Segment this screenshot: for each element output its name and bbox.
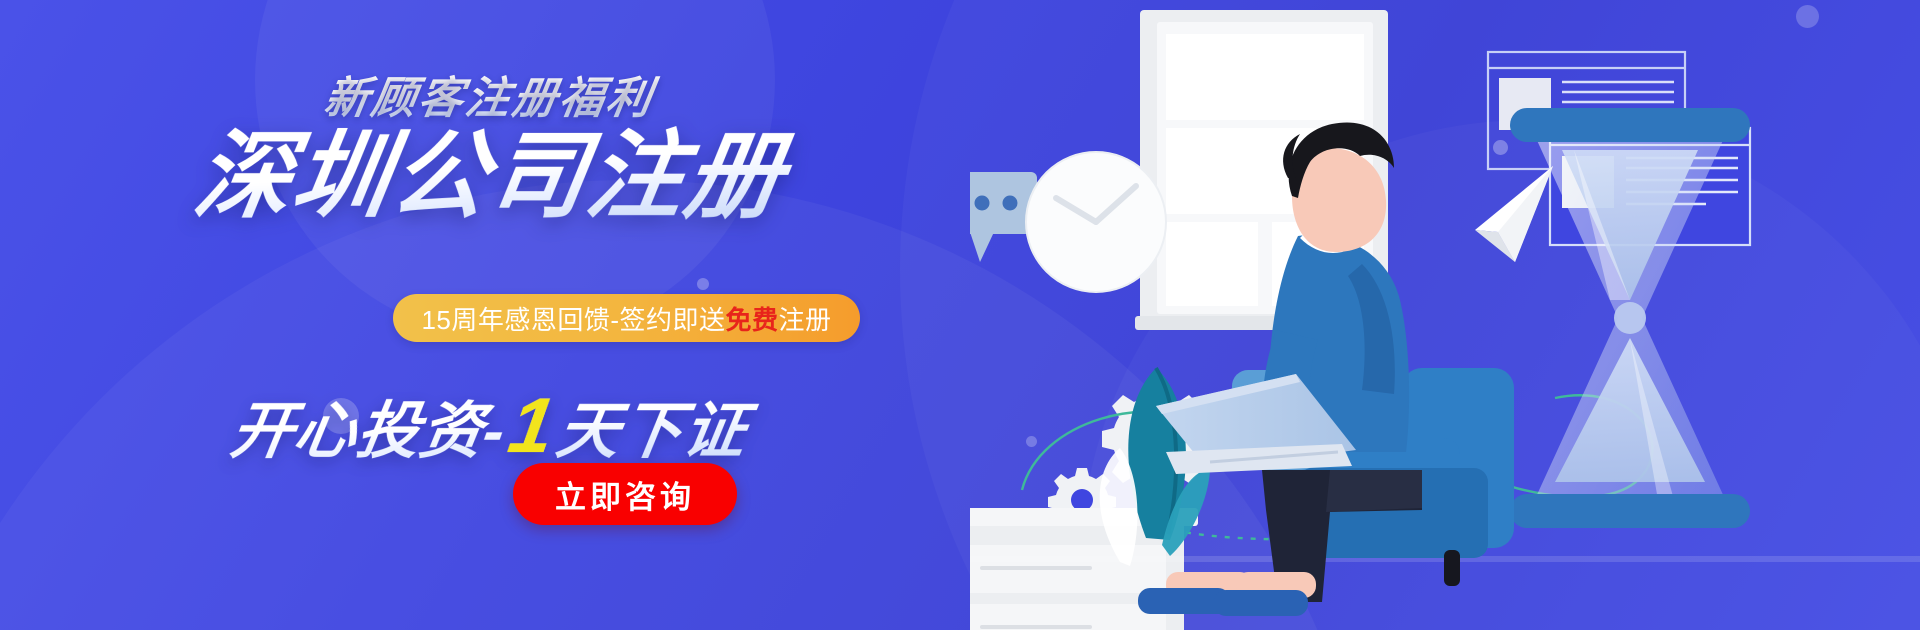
promo-banner: 新顾客注册福利 深圳公司注册 15周年感恩回馈-签约即送免费注册 开心投资-1天… xyxy=(0,0,1920,630)
promo-pill-text: 15周年感恩回馈-签约即送免费注册 xyxy=(421,300,831,337)
wall-clock-icon xyxy=(1026,152,1166,292)
eyebrow-text: 新顾客注册福利 xyxy=(0,62,985,126)
banner-copy: 新顾客注册福利 深圳公司注册 15周年感恩回馈-签约即送免费注册 开心投资-1天… xyxy=(0,0,980,630)
subheadline-suffix: 天下证 xyxy=(552,397,752,466)
page-title: 深圳公司注册 xyxy=(0,125,988,229)
consult-now-button-label: 立即咨询 xyxy=(555,472,695,517)
subheadline-prefix: 开心投资- xyxy=(226,397,511,466)
promo-trail: 注册 xyxy=(779,305,832,335)
illustration-scene xyxy=(970,0,1920,630)
promo-pill: 15周年感恩回馈-签约即送免费注册 xyxy=(393,294,860,342)
promo-lead: 15周年感恩回馈-签约即送 xyxy=(421,305,725,335)
subheadline: 开心投资-1天下证 xyxy=(0,380,987,471)
consult-now-button[interactable]: 立即咨询 xyxy=(513,463,737,525)
promo-highlight: 免费 xyxy=(726,305,779,335)
paper-plane-icon xyxy=(1475,166,1553,262)
